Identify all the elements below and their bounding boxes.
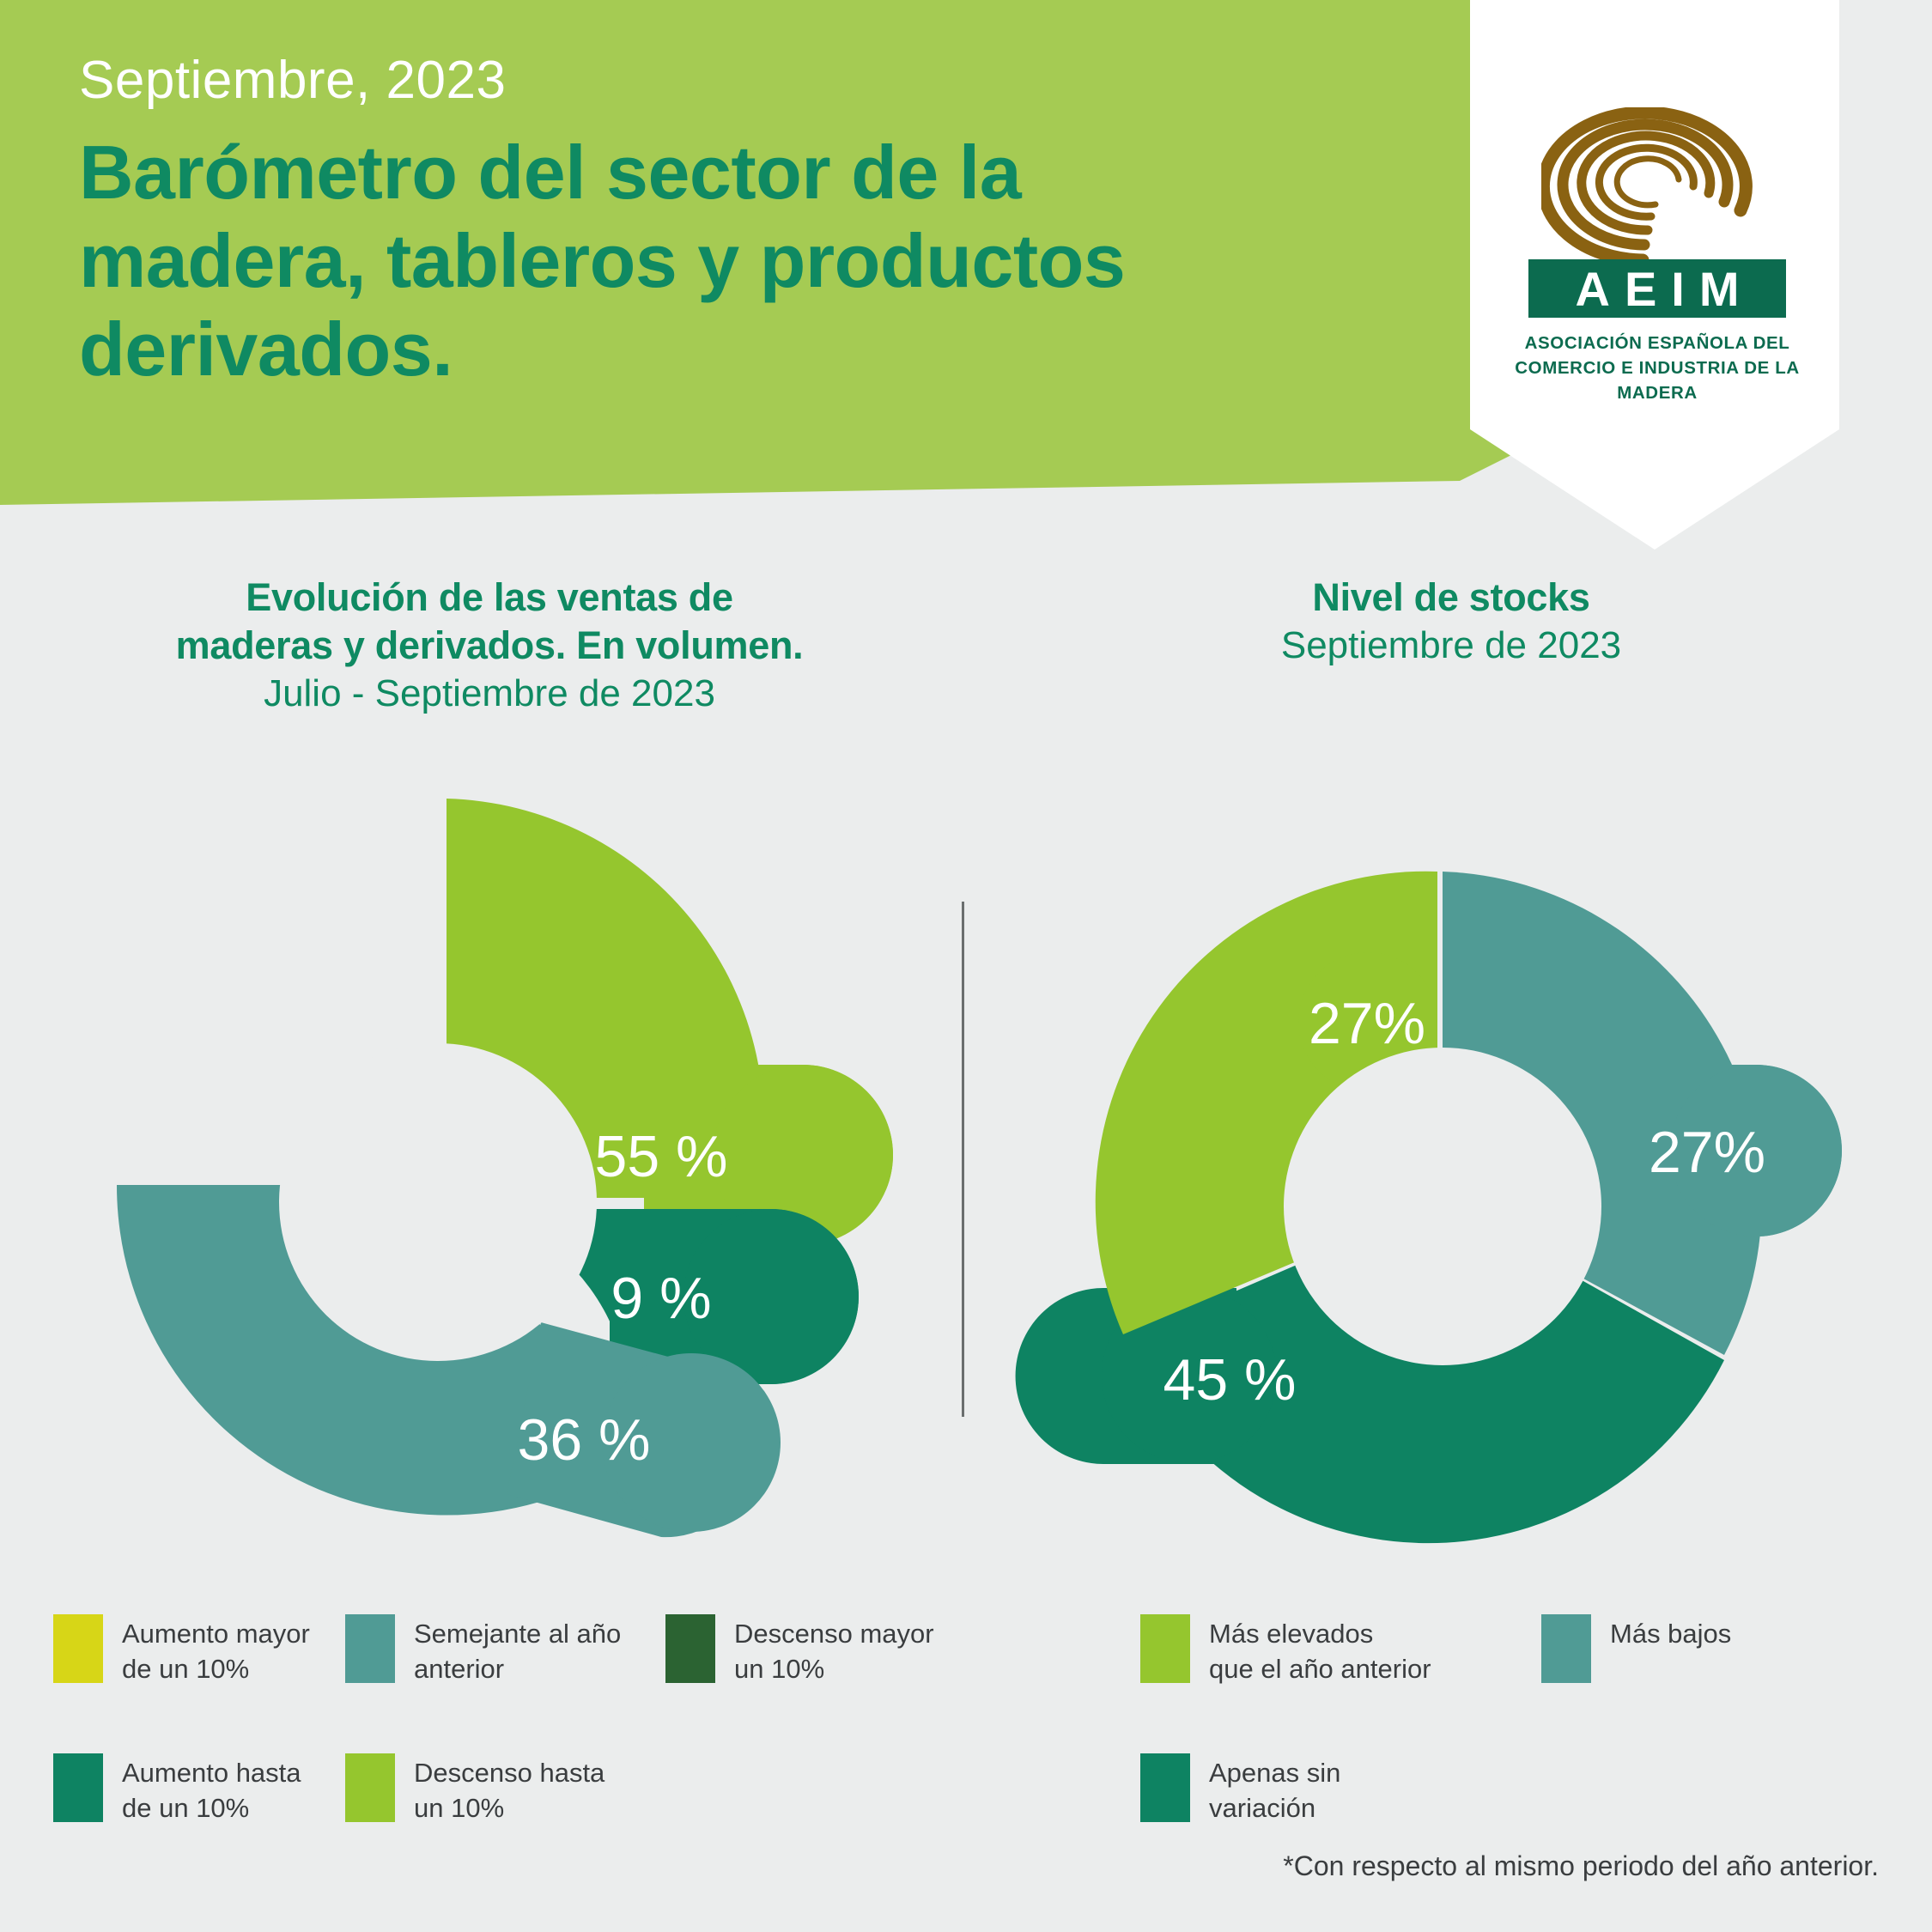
- donut-hole-left: [279, 1043, 597, 1361]
- legend-item-semejante: Semejante al año anterior: [345, 1614, 629, 1686]
- legend-label-apenas-sin-variacion: Apenas sin variación: [1209, 1753, 1340, 1826]
- legend-label-mas-elevados: Más elevados que el año anterior: [1209, 1614, 1431, 1686]
- tree-rings-icon: [1541, 107, 1773, 266]
- legend-item-mas-bajos: Más bajos: [1541, 1614, 1825, 1683]
- chart-title-left-line1: Evolución de las ventas de: [52, 574, 927, 622]
- chart-title-left-line2: maderas y derivados. En volumen.: [52, 622, 927, 670]
- footnote: *Con respecto al mismo periodo del año a…: [1283, 1850, 1879, 1882]
- legend-label-descenso-mayor: Descenso mayor un 10%: [734, 1614, 934, 1686]
- header-kicker: Septiembre, 2023: [79, 50, 506, 111]
- chart-title-right-line1: Nivel de stocks: [1013, 574, 1889, 622]
- donut-label-55: 55 %: [595, 1124, 728, 1189]
- legend-item-mas-elevados: Más elevados que el año anterior: [1140, 1614, 1484, 1686]
- chart-title-right: Nivel de stocks Septiembre de 2023: [1013, 574, 1889, 670]
- legend-swatch-light-green-2: [1140, 1614, 1190, 1683]
- legend-swatch-teal-2: [1541, 1614, 1591, 1683]
- legend-item-aumento-mayor: Aumento mayor de un 10%: [53, 1614, 337, 1686]
- legend-swatch-dark-green: [53, 1753, 103, 1822]
- donut-label-green-27: 27%: [1309, 991, 1425, 1056]
- legend-swatch-dark-green-2: [1140, 1753, 1190, 1822]
- legend-swatch-deep-green: [665, 1614, 715, 1683]
- legend-swatch-yellow: [53, 1614, 103, 1683]
- donut-label-teal-27: 27%: [1649, 1120, 1765, 1185]
- legend-item-apenas-sin-variacion: Apenas sin variación: [1140, 1753, 1484, 1826]
- legend-label-aumento-mayor: Aumento mayor de un 10%: [122, 1614, 310, 1686]
- chart-subtitle-left: Julio - Septiembre de 2023: [52, 670, 927, 718]
- legend-item-descenso-mayor: Descenso mayor un 10%: [665, 1614, 949, 1686]
- donut-hole-right: [1284, 1048, 1601, 1365]
- legend-label-semejante: Semejante al año anterior: [414, 1614, 621, 1686]
- donut-label-45: 45 %: [1163, 1347, 1297, 1413]
- donut-label-9: 9 %: [611, 1266, 711, 1331]
- legend-label-aumento-hasta: Aumento hasta de un 10%: [122, 1753, 301, 1826]
- legend-swatch-teal: [345, 1614, 395, 1683]
- logo-subtitle: ASOCIACIÓN ESPAÑOLA DEL COMERCIO E INDUS…: [1511, 331, 1803, 405]
- legend-label-descenso-hasta: Descenso hasta un 10%: [414, 1753, 605, 1826]
- legend-item-descenso-hasta: Descenso hasta un 10%: [345, 1753, 629, 1826]
- infographic-canvas: Septiembre, 2023 Barómetro del sector de…: [0, 0, 1932, 1932]
- logo-wordmark: AEIM: [1528, 259, 1786, 318]
- legend-swatch-light-green: [345, 1753, 395, 1822]
- vertical-divider: [962, 902, 964, 1417]
- legend-label-mas-bajos: Más bajos: [1610, 1614, 1731, 1651]
- chart-subtitle-right: Septiembre de 2023: [1013, 622, 1889, 670]
- page-title: Barómetro del sector de la madera, table…: [79, 129, 1281, 394]
- donut-label-36: 36 %: [518, 1407, 651, 1473]
- donut-chart-evolucion-ventas: 55 % 9 % 36 %: [60, 738, 936, 1597]
- donut-chart-nivel-stocks: 27% 27% 45 %: [979, 738, 1889, 1597]
- chart-title-left: Evolución de las ventas de maderas y der…: [52, 574, 927, 718]
- legend-item-aumento-hasta: Aumento hasta de un 10%: [53, 1753, 337, 1826]
